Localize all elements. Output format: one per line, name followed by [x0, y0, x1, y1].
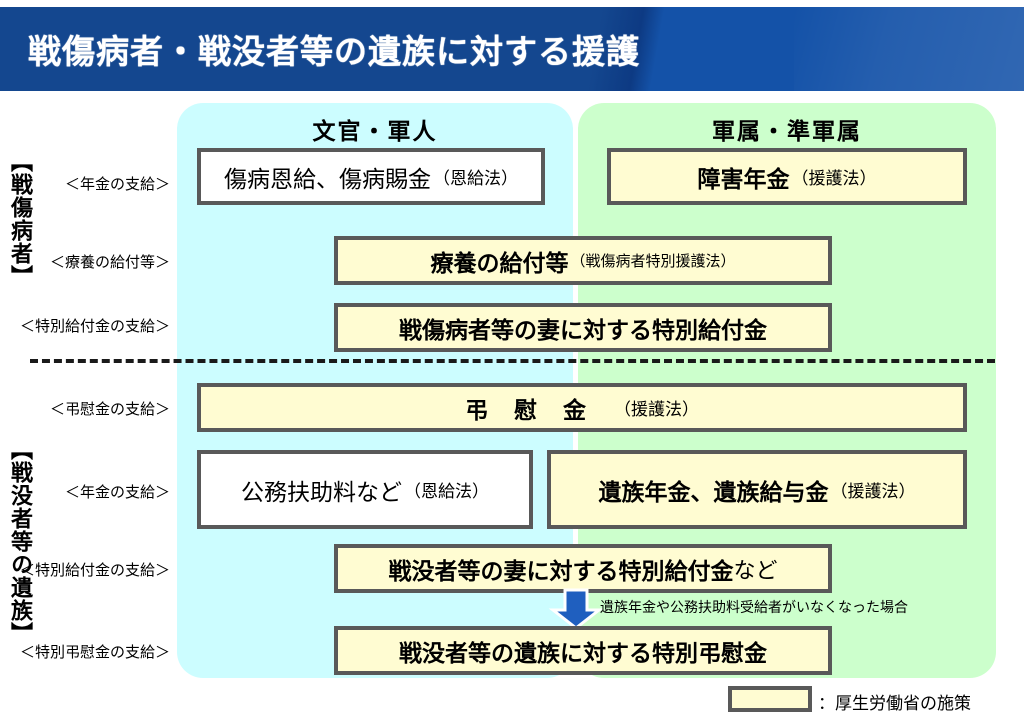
box-public-assistance: 公務扶助料など （恩給法）	[197, 450, 533, 529]
box-survivor-pension: 遺族年金、遺族給与金 （援護法）	[547, 450, 967, 529]
box-condolence-money-law: （援護法）	[614, 395, 699, 420]
banner-sheen	[794, 7, 1024, 91]
box-wife-special-benefit-main: 戦傷病者等の妻に対する特別給付金	[399, 311, 767, 345]
box-special-condolence-money-main: 戦没者等の遺族に対する特別弔慰金	[399, 634, 767, 668]
row-label-medical: ＜療養の給付等＞	[20, 251, 170, 272]
arrow-annotation: 遺族年金や公務扶助料受給者がいなくなった場合	[600, 597, 908, 617]
box-condolence-money: 弔慰金 （援護法）	[197, 383, 967, 432]
box-war-dead-wife-benefit: 戦没者等の妻に対する特別給付金 など	[334, 544, 832, 593]
section-divider	[30, 359, 995, 363]
column-header-right: 軍属・準軍属	[578, 112, 996, 146]
box-disability-pension-main: 障害年金	[698, 160, 790, 194]
legend-swatch	[728, 686, 812, 712]
box-wife-special-benefit: 戦傷病者等の妻に対する特別給付金	[334, 303, 832, 352]
row-label-condolence: ＜弔慰金の支給＞	[20, 398, 170, 419]
box-injury-pension-main: 傷病恩給、傷病賜金	[224, 160, 431, 194]
page-title: 戦傷病者・戦没者等の遺族に対する援護	[28, 25, 640, 73]
box-condolence-money-main: 弔慰金	[465, 391, 612, 425]
column-header-left: 文官・軍人	[177, 112, 573, 146]
box-public-assistance-main: 公務扶助料など	[241, 473, 402, 507]
group-label-bereaved: 【戦没者等の遺族】	[8, 438, 30, 645]
box-survivor-pension-main: 遺族年金、遺族給与金	[599, 473, 829, 507]
box-medical-benefit-main: 療養の給付等	[430, 244, 568, 278]
box-disability-pension-law: （援護法）	[792, 164, 877, 189]
legend-label: ：厚生労働省の施策	[818, 689, 971, 714]
box-disability-pension: 障害年金 （援護法）	[607, 148, 967, 205]
box-public-assistance-law: （恩給法）	[404, 477, 489, 502]
row-label-special-benefit-lower: ＜特別給付金の支給＞	[10, 559, 170, 580]
flow-arrow-down	[548, 588, 604, 630]
row-label-special-condolence: ＜特別弔慰金の支給＞	[10, 641, 170, 662]
box-injury-pension-law: （恩給法）	[433, 164, 518, 189]
box-medical-benefit: 療養の給付等 （戦傷病者特別援護法）	[334, 236, 832, 285]
box-war-dead-wife-benefit-main: 戦没者等の妻に対する特別給付金	[388, 552, 733, 586]
box-injury-pension: 傷病恩給、傷病賜金 （恩給法）	[197, 148, 545, 205]
row-label-pension-upper: ＜年金の支給＞	[20, 173, 170, 194]
box-medical-benefit-law: （戦傷病者特別援護法）	[570, 250, 735, 271]
box-special-condolence-money: 戦没者等の遺族に対する特別弔慰金	[334, 626, 832, 675]
page-header-banner: 戦傷病者・戦没者等の遺族に対する援護	[0, 7, 1024, 91]
row-label-pension-lower: ＜年金の支給＞	[20, 481, 170, 502]
box-war-dead-wife-benefit-tail: など	[733, 553, 777, 585]
box-survivor-pension-law: （援護法）	[831, 477, 916, 502]
row-label-special-benefit-upper: ＜特別給付金の支給＞	[10, 315, 170, 336]
